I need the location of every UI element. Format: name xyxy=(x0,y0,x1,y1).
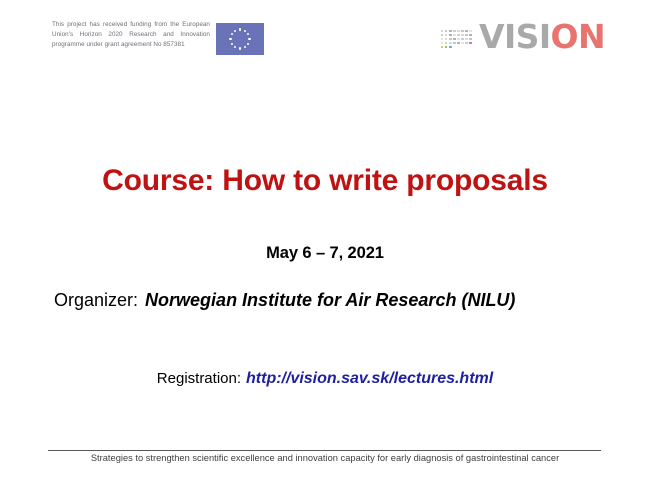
logo-dot xyxy=(469,34,472,37)
footer-tagline: Strategies to strengthen scientific exce… xyxy=(0,453,650,463)
logo-dot xyxy=(445,38,448,41)
logo-dot xyxy=(441,34,444,37)
logo-dot xyxy=(445,46,448,49)
logo-dot xyxy=(465,38,468,41)
logo-dot xyxy=(457,38,460,41)
logo-dot xyxy=(465,42,468,45)
logo-dot xyxy=(469,30,472,33)
vision-wordmark: VISION xyxy=(479,20,605,53)
vision-logo: VISION xyxy=(441,20,605,53)
eu-flag-icon xyxy=(216,23,264,55)
logo-dot xyxy=(441,30,444,33)
organizer-label: Organizer: xyxy=(54,290,138,310)
eu-star-icon xyxy=(247,33,249,35)
eu-star-icon xyxy=(239,47,241,49)
eu-star-icon xyxy=(234,30,236,32)
logo-dot xyxy=(461,38,464,41)
logo-dot xyxy=(453,38,456,41)
eu-star-icon xyxy=(247,43,249,45)
logo-dot xyxy=(461,34,464,37)
vision-dot-matrix-icon xyxy=(441,30,472,49)
eu-star-icon xyxy=(244,30,246,32)
logo-dot xyxy=(449,30,452,33)
registration-url-link[interactable]: http://vision.sav.sk/lectures.html xyxy=(246,370,493,387)
vision-wordmark-red: ON xyxy=(551,17,605,56)
logo-dot xyxy=(469,42,472,45)
logo-dot xyxy=(449,46,452,49)
eu-star-icon xyxy=(248,38,250,40)
eu-star-icon xyxy=(231,33,233,35)
logo-dot xyxy=(445,30,448,33)
logo-dot xyxy=(465,34,468,37)
logo-dot xyxy=(457,42,460,45)
logo-dot xyxy=(441,38,444,41)
logo-dot xyxy=(461,30,464,33)
logo-dot xyxy=(453,42,456,45)
eu-funding-block: This project has received funding from t… xyxy=(52,20,267,55)
logo-dot xyxy=(465,30,468,33)
registration-line: Registration:http://vision.sav.sk/lectur… xyxy=(0,370,650,388)
event-dates: May 6 – 7, 2021 xyxy=(0,244,650,263)
logo-dot xyxy=(441,42,444,45)
page-title: Course: How to write proposals xyxy=(0,164,650,198)
eu-star-icon xyxy=(239,28,241,30)
logo-dot xyxy=(469,38,472,41)
eu-star-icon xyxy=(231,43,233,45)
registration-label: Registration: xyxy=(157,370,241,387)
vision-wordmark-gray: VISI xyxy=(479,17,550,56)
logo-dot xyxy=(449,38,452,41)
logo-dot xyxy=(453,30,456,33)
eu-star-icon xyxy=(244,46,246,48)
logo-dot xyxy=(449,34,452,37)
footer-divider xyxy=(48,450,601,451)
logo-dot xyxy=(457,30,460,33)
logo-dot xyxy=(441,46,444,49)
logo-dot xyxy=(445,42,448,45)
organizer-line: Organizer:Norwegian Institute for Air Re… xyxy=(54,290,515,311)
eu-star-icon xyxy=(234,46,236,48)
eu-funding-statement: This project has received funding from t… xyxy=(52,20,210,51)
logo-dot xyxy=(449,42,452,45)
logo-dot xyxy=(457,34,460,37)
logo-dot xyxy=(461,42,464,45)
logo-dot xyxy=(453,34,456,37)
organizer-name: Norwegian Institute for Air Research (NI… xyxy=(145,290,515,310)
eu-star-icon xyxy=(229,38,231,40)
logo-dot xyxy=(445,34,448,37)
